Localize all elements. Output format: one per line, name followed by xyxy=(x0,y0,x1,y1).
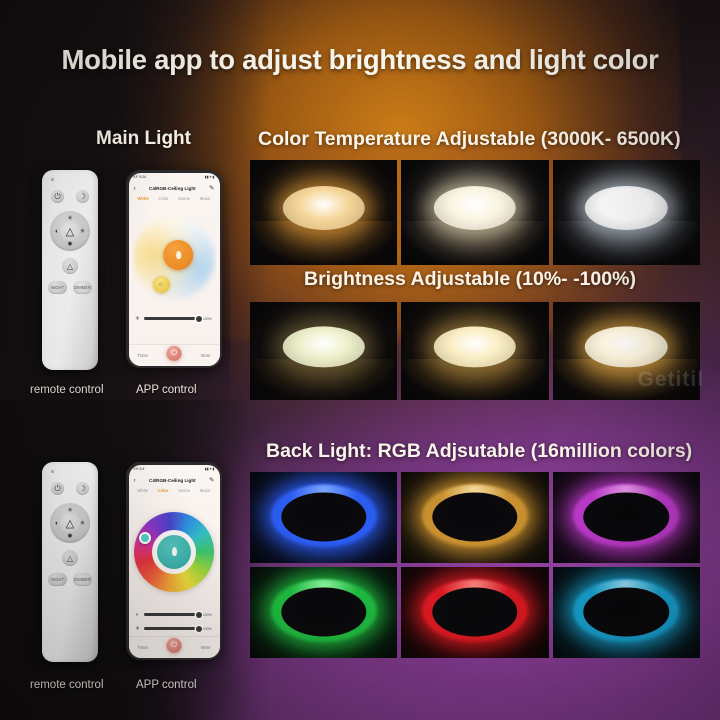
lamp-dark-face xyxy=(584,492,669,541)
saturation-icon: ◐ xyxy=(135,612,141,618)
backlight-warm-amber xyxy=(401,472,548,563)
infographic-canvas: Mobile app to adjust brightness and ligh… xyxy=(0,0,720,720)
heading-main-light: Main Light xyxy=(96,128,191,150)
brightness-sun-icon: ☀ xyxy=(135,316,141,322)
backlight-green xyxy=(250,567,397,658)
phone-screen-white: KF 5:24 ▮▮ ▾ ▮ ‹ C4/RGB-Ceiling Light ✎ … xyxy=(129,173,220,366)
phone-app-white-mode[interactable]: KF 5:24 ▮▮ ▾ ▮ ‹ C4/RGB-Ceiling Light ✎ … xyxy=(126,170,222,368)
center-triangle-icon[interactable]: △ xyxy=(60,221,80,241)
lamp-dark-face xyxy=(432,492,517,541)
phone-app-color-mode[interactable]: KH 5:4 ▮▮ ▾ ▮ ‹ C4/RGB-Ceiling Light ✎ W… xyxy=(126,462,222,660)
device-name-title: C4/RGB-Ceiling Light xyxy=(149,478,196,483)
color-temperature-picker[interactable]: ☼ xyxy=(133,204,216,312)
back-chevron-icon[interactable]: ‹ xyxy=(134,185,136,192)
brightness-slider-row[interactable]: ☀ 100% xyxy=(129,622,220,636)
directional-pad[interactable]: ☀ ✹ ◐ ☀ △ xyxy=(50,211,90,251)
device-name-title: C4/RGB-Ceiling Light xyxy=(149,186,196,191)
lamp-dark-face xyxy=(281,587,366,636)
power-button-icon[interactable]: ⏻ xyxy=(51,190,64,203)
tab-color[interactable]: Color xyxy=(158,196,168,201)
night-button[interactable]: NIGHT xyxy=(48,573,67,586)
saturation-slider-row[interactable]: ◐ 100% xyxy=(129,608,220,622)
night-mode-moon-icon[interactable]: ☽ xyxy=(76,190,89,203)
tab-color[interactable]: Color xyxy=(158,488,169,493)
app-nav-bar: ‹ C4/RGB-Ceiling Light ✎ xyxy=(129,474,220,487)
warm-white-3000k xyxy=(250,160,397,265)
bulb-icon xyxy=(176,251,181,259)
brightness-slider-track[interactable] xyxy=(144,317,200,320)
brightness-mid-50 xyxy=(401,302,548,400)
more-button[interactable]: More xyxy=(201,645,211,650)
status-time: KH 5:4 xyxy=(134,467,145,471)
ceiling-lamp xyxy=(585,186,668,230)
ceiling-lamp xyxy=(282,327,365,368)
rgb-color-wheel-picker[interactable] xyxy=(133,496,216,608)
heading-back-light: Back Light: RGB Adjsutable (16million co… xyxy=(266,440,692,463)
status-indicators-icon: ▮▮ ▾ ▮ xyxy=(205,467,215,471)
color-wheel-center-swatch[interactable] xyxy=(157,535,191,569)
brightness-value: 100% xyxy=(203,317,214,321)
backlight-cyan xyxy=(553,567,700,658)
backlight-red xyxy=(401,567,548,658)
lamp-dark-face xyxy=(584,587,669,636)
saturation-slider-track[interactable] xyxy=(144,613,200,616)
color-wheel-handle[interactable] xyxy=(139,532,151,544)
dimmer-button[interactable]: DIMMER xyxy=(73,281,92,294)
brightness-slider-knob[interactable] xyxy=(196,626,202,632)
back-light-image-grid xyxy=(250,472,700,658)
caption-app-control-bottom: APP control xyxy=(136,679,197,691)
ceiling-lamp xyxy=(434,327,517,368)
backlight-blue xyxy=(250,472,397,563)
mode-tabs: White Color Scene Music xyxy=(129,487,220,496)
app-nav-bar: ‹ C4/RGB-Ceiling Light ✎ xyxy=(129,182,220,195)
caption-remote-control-bottom: remote control xyxy=(30,679,104,691)
brightness-value: 100% xyxy=(203,627,214,631)
saturation-slider-knob[interactable] xyxy=(196,612,202,618)
directional-pad[interactable]: ☀ ✹ ◐ ☀ △ xyxy=(50,503,90,543)
color-temperature-knob[interactable] xyxy=(163,240,193,270)
tab-white[interactable]: White xyxy=(137,488,148,493)
edit-pencil-icon[interactable]: ✎ xyxy=(209,476,214,484)
back-chevron-icon[interactable]: ‹ xyxy=(134,477,136,484)
mode-triangle-button-icon[interactable]: △ xyxy=(62,258,78,274)
brightness-sun-icon: ☀ xyxy=(135,626,141,632)
color-temperature-image-grid xyxy=(250,160,700,265)
ceiling-lamp xyxy=(434,186,517,230)
tab-scene[interactable]: Scene xyxy=(178,488,190,493)
brightness-slider-knob[interactable] xyxy=(196,316,202,322)
tab-scene[interactable]: Scene xyxy=(178,196,190,201)
tab-white[interactable]: White xyxy=(137,196,148,201)
brightness-low-10 xyxy=(250,302,397,400)
caption-app-control-top: APP control xyxy=(136,384,197,396)
brightness-slider-row[interactable]: ☀ 100% xyxy=(129,312,220,326)
edit-pencil-icon[interactable]: ✎ xyxy=(209,184,214,192)
brightness-high-100 xyxy=(553,302,700,400)
power-button-icon[interactable]: ⏻ xyxy=(51,482,64,495)
color-temperature-handle[interactable]: ☼ xyxy=(153,276,170,293)
ceiling-lamp xyxy=(585,327,668,368)
night-button[interactable]: NIGHT xyxy=(48,281,67,294)
lamp-dark-face xyxy=(281,492,366,541)
power-toggle-button[interactable]: ⏻ xyxy=(167,346,182,361)
heading-color-temperature: Color Temperature Adjustable (3000K- 650… xyxy=(258,128,681,151)
page-title: Mobile app to adjust brightness and ligh… xyxy=(0,44,720,76)
more-button[interactable]: More xyxy=(201,353,211,358)
power-toggle-button[interactable]: ⏻ xyxy=(167,638,182,653)
tab-music[interactable]: Music xyxy=(200,488,211,493)
brightness-image-grid xyxy=(250,302,700,400)
ir-led-indicator xyxy=(51,178,54,181)
mode-tabs: White Color Scene Music xyxy=(129,195,220,204)
ceiling-lamp xyxy=(282,186,365,230)
saturation-value: 100% xyxy=(203,613,214,617)
remote-control-main[interactable]: ⏻ ☽ ☀ ✹ ◐ ☀ △ △ NIGHT DIMMER xyxy=(42,170,98,370)
night-mode-moon-icon[interactable]: ☽ xyxy=(76,482,89,495)
ir-led-indicator xyxy=(51,470,54,473)
neutral-white-4500k xyxy=(401,160,548,265)
timer-button[interactable]: Timer xyxy=(138,353,149,358)
dimmer-button[interactable]: DIMMER xyxy=(73,573,92,586)
tab-music[interactable]: Music xyxy=(200,196,211,201)
timer-button[interactable]: Timer xyxy=(138,645,149,650)
bulb-icon xyxy=(172,547,177,556)
lamp-dark-face xyxy=(432,587,517,636)
status-indicators-icon: ▮▮ ▾ ▮ xyxy=(205,175,215,179)
status-time: KF 5:24 xyxy=(134,175,147,179)
cool-white-6500k xyxy=(553,160,700,265)
mode-triangle-button-icon[interactable]: △ xyxy=(62,550,78,566)
status-bar: KF 5:24 ▮▮ ▾ ▮ xyxy=(129,173,220,182)
brightness-slider-track[interactable] xyxy=(144,627,200,630)
backlight-magenta xyxy=(553,472,700,563)
caption-remote-control-top: remote control xyxy=(30,384,104,396)
heading-brightness: Brightness Adjustable (10%- -100%) xyxy=(304,268,636,291)
phone-screen-color: KH 5:4 ▮▮ ▾ ▮ ‹ C4/RGB-Ceiling Light ✎ W… xyxy=(129,465,220,658)
center-triangle-icon[interactable]: △ xyxy=(60,513,80,533)
status-bar: KH 5:4 ▮▮ ▾ ▮ xyxy=(129,465,220,474)
remote-control-backlight[interactable]: ⏻ ☽ ☀ ✹ ◐ ☀ △ △ NIGHT DIMMER xyxy=(42,462,98,662)
